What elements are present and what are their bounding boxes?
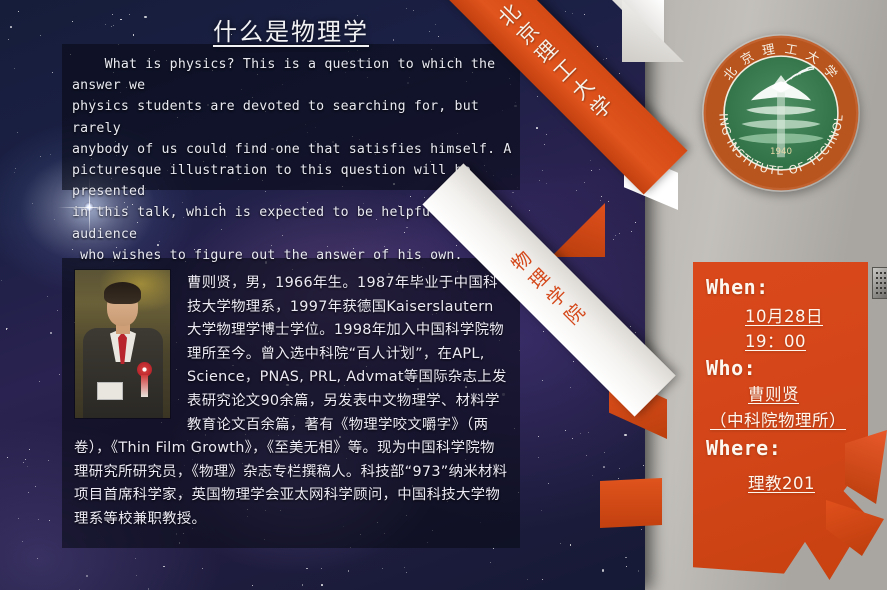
keypad-icon: [872, 267, 887, 299]
orange-corner-tab: [600, 478, 662, 528]
speaker-name: 曹则贤: [748, 381, 799, 405]
poster-canvas: 什么是物理学 What is physics? This is a questi…: [0, 0, 887, 590]
photo-rosette-icon: [137, 362, 152, 377]
poster-title: 什么是物理学: [62, 12, 520, 47]
photo-hair: [104, 282, 141, 304]
event-room: 理教201: [748, 470, 815, 494]
photo-name-badge: [97, 382, 123, 400]
bit-emblem-icon: 1940 北 京 理 工 大 学 BEIJING INSTITUTE OF TE…: [702, 34, 860, 192]
speaker-affiliation: （中科院物理所）: [710, 407, 846, 431]
where-label: Where:: [706, 436, 781, 460]
event-time: 19：00: [745, 328, 806, 352]
logo-year: 1940: [770, 147, 792, 157]
abstract-text: What is physics? This is a question to w…: [72, 54, 518, 266]
event-date: 10月28日: [745, 303, 823, 327]
who-label: Who:: [706, 356, 756, 380]
when-label: When:: [706, 275, 769, 299]
university-logo: 1940 北 京 理 工 大 学 BEIJING INSTITUTE OF TE…: [702, 34, 860, 192]
speaker-photo: [75, 270, 170, 418]
